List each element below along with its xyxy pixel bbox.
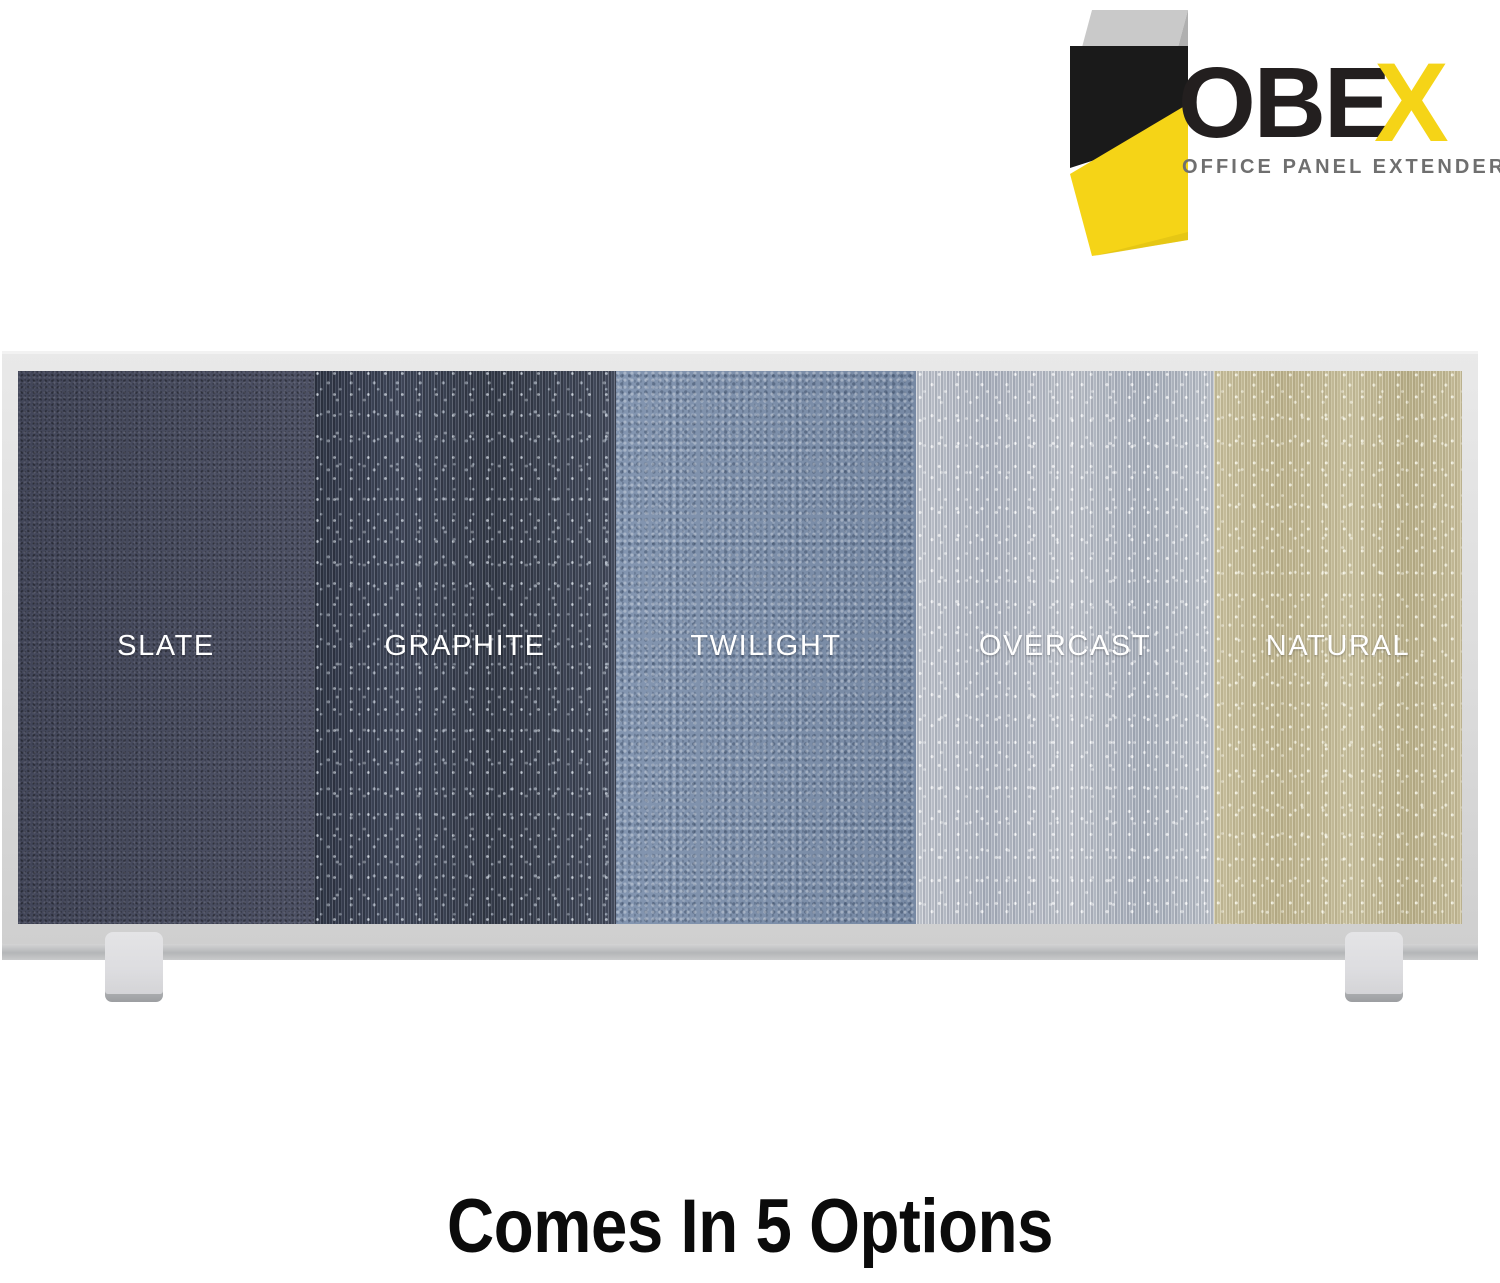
fabric-swatch-label: NATURAL (1214, 630, 1462, 663)
obex-wordmark-accent-x: X (1374, 53, 1449, 153)
panel-frame-highlight (2, 351, 1478, 354)
panel-foot-right-body (1345, 932, 1403, 994)
fabric-swatch-twilight[interactable]: TWILIGHT (616, 371, 916, 924)
fabric-swatch-overcast[interactable]: OVERCAST (916, 371, 1214, 924)
fabric-swatch-graphite[interactable]: GRAPHITE (314, 371, 616, 924)
fabric-swatch-strip: SLATEGRAPHITETWILIGHTOVERCASTNATURAL (18, 371, 1462, 924)
obex-logo: OBE X OFFICE PANEL EXTENDERS (1070, 8, 1470, 203)
obex-logo-mark (1070, 8, 1188, 258)
fabric-swatch-slate[interactable]: SLATE (18, 371, 314, 924)
fabric-swatch-natural[interactable]: NATURAL (1214, 371, 1462, 924)
fabric-swatch-label: OVERCAST (916, 630, 1214, 663)
fabric-swatch-label: SLATE (18, 630, 314, 663)
obex-tagline: OFFICE PANEL EXTENDERS (1182, 156, 1500, 179)
panel-foot-left (105, 932, 163, 1007)
obex-wordmark: OBE X (1178, 53, 1478, 173)
fabric-swatch-label: TWILIGHT (616, 630, 916, 663)
panel-foot-left-body (105, 932, 163, 994)
panel-foot-right (1345, 932, 1403, 1007)
panel-bottom-rail (2, 944, 1478, 960)
obex-wordmark-dark: OBE (1178, 53, 1389, 153)
fabric-swatch-label: GRAPHITE (314, 630, 616, 663)
panel-extender: SLATEGRAPHITETWILIGHTOVERCASTNATURAL (2, 351, 1478, 945)
caption-comes-in-5-options: Comes In 5 Options (105, 1183, 1395, 1270)
